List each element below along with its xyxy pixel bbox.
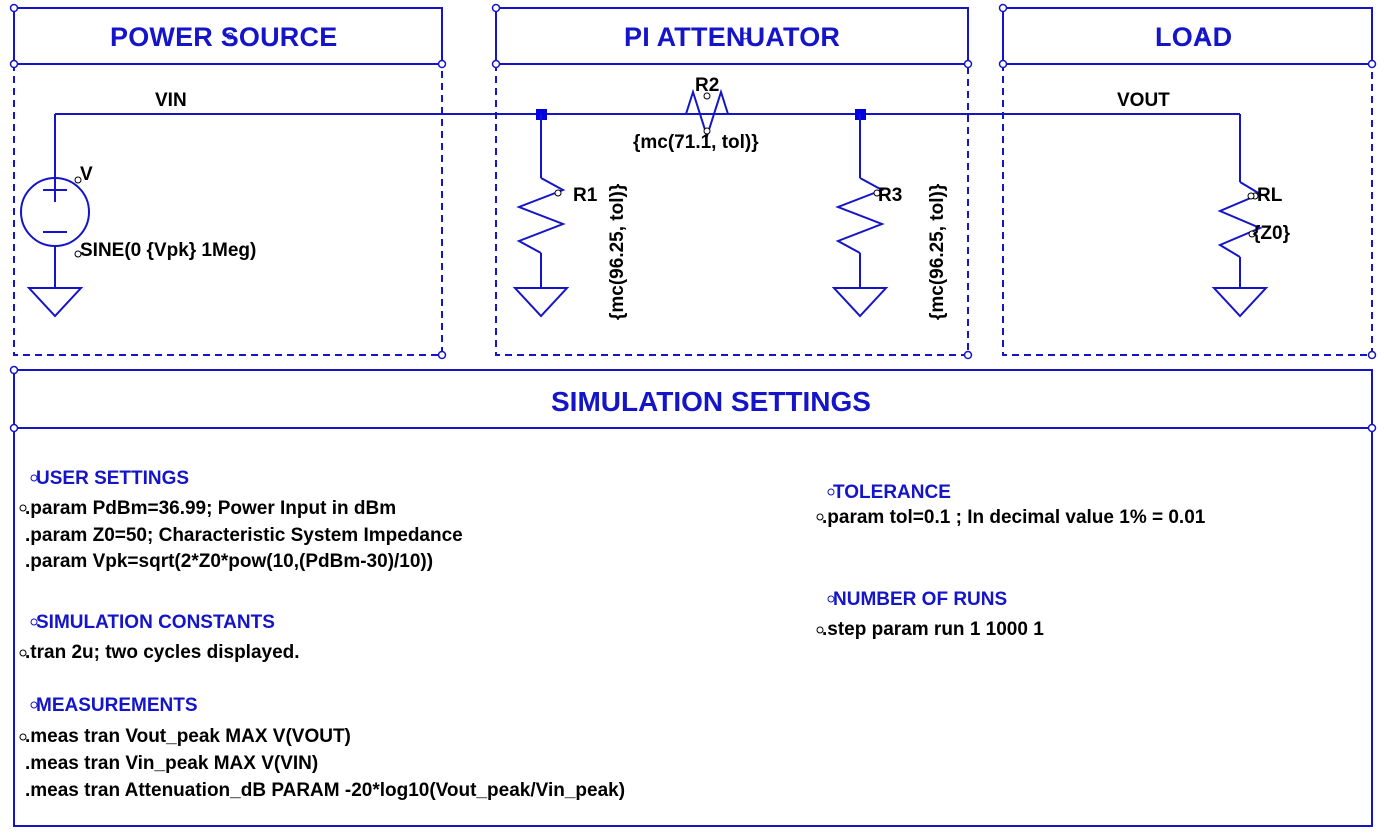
anchor-marker <box>965 352 972 359</box>
anchor-marker <box>11 367 18 374</box>
schematic-canvas <box>0 0 1386 834</box>
r1-value: {mc(96.25, tol)} <box>608 184 627 320</box>
power-source-title: POWER SOURCE <box>110 24 337 51</box>
anchor-marker <box>439 352 446 359</box>
voltage-source-refdes: V <box>80 165 93 184</box>
settings-line: .param Vpk=sqrt(2*Z0*pow(10,(PdBm-30)/10… <box>25 552 433 571</box>
r2-refdes: R2 <box>695 76 719 95</box>
anchor-marker <box>1000 61 1007 68</box>
settings-heading-number-of-runs: NUMBER OF RUNS <box>833 590 1007 609</box>
settings-line: .meas tran Vout_peak MAX V(VOUT) <box>25 727 351 746</box>
simulation-settings-title: SIMULATION SETTINGS <box>551 388 871 416</box>
anchor-marker <box>1369 352 1376 359</box>
r1-refdes: R1 <box>573 186 597 205</box>
settings-line: .meas tran Attenuation_dB PARAM -20*log1… <box>25 781 625 800</box>
voltage-source-value: SINE(0 {Vpk} 1Meg) <box>80 241 256 260</box>
anchor-marker <box>965 61 972 68</box>
anchor-marker <box>493 5 500 12</box>
anchor-marker <box>11 61 18 68</box>
vin-net-label: VIN <box>155 91 187 110</box>
settings-line: .param PdBm=36.99; Power Input in dBm <box>25 499 396 518</box>
load-group <box>1000 5 1376 359</box>
ground-icon <box>834 288 886 316</box>
settings-line: .step param run 1 1000 1 <box>822 620 1044 639</box>
settings-line: .param tol=0.1 ; In decimal value 1% = 0… <box>822 508 1205 527</box>
ground-icon <box>1214 288 1266 316</box>
rl-value: {Z0} <box>1253 224 1290 243</box>
load-title: LOAD <box>1155 24 1232 51</box>
settings-heading-user-settings: USER SETTINGS <box>36 469 189 488</box>
anchor-marker <box>11 425 18 432</box>
r3-refdes: R3 <box>878 186 902 205</box>
r2-value: {mc(71.1, tol)} <box>633 133 759 152</box>
vout-net-label: VOUT <box>1117 91 1170 110</box>
anchor-marker <box>555 190 561 196</box>
ground-icon <box>29 288 81 316</box>
r1-resistor-symbol <box>519 178 563 253</box>
settings-line: .meas tran Vin_peak MAX V(VIN) <box>25 754 318 773</box>
settings-heading-simulation-constants: SIMULATION CONSTANTS <box>36 613 275 632</box>
r3-value: {mc(96.25, tol)} <box>928 184 947 320</box>
anchor-marker <box>493 61 500 68</box>
settings-heading-tolerance: TOLERANCE <box>833 483 951 502</box>
power-source-body-box <box>14 64 442 355</box>
pi-attenuator-body-box <box>496 64 968 355</box>
ground-icon <box>515 288 567 316</box>
load-body-box <box>1003 64 1372 355</box>
settings-line: .param Z0=50; Characteristic System Impe… <box>25 526 463 545</box>
settings-heading-measurements: MEASUREMENTS <box>36 696 198 715</box>
source-plus-icon <box>43 178 67 202</box>
anchor-marker <box>1000 5 1007 12</box>
anchor-marker <box>11 5 18 12</box>
pi-attenuator-group <box>493 5 972 359</box>
anchor-marker <box>1369 61 1376 68</box>
rl-refdes: RL <box>1257 186 1282 205</box>
anchor-marker <box>439 61 446 68</box>
settings-line: .tran 2u; two cycles displayed. <box>25 643 300 662</box>
pi-attenuator-title: PI ATTENUATOR <box>624 24 840 51</box>
r3-resistor-symbol <box>838 178 882 253</box>
anchor-marker <box>1369 425 1376 432</box>
